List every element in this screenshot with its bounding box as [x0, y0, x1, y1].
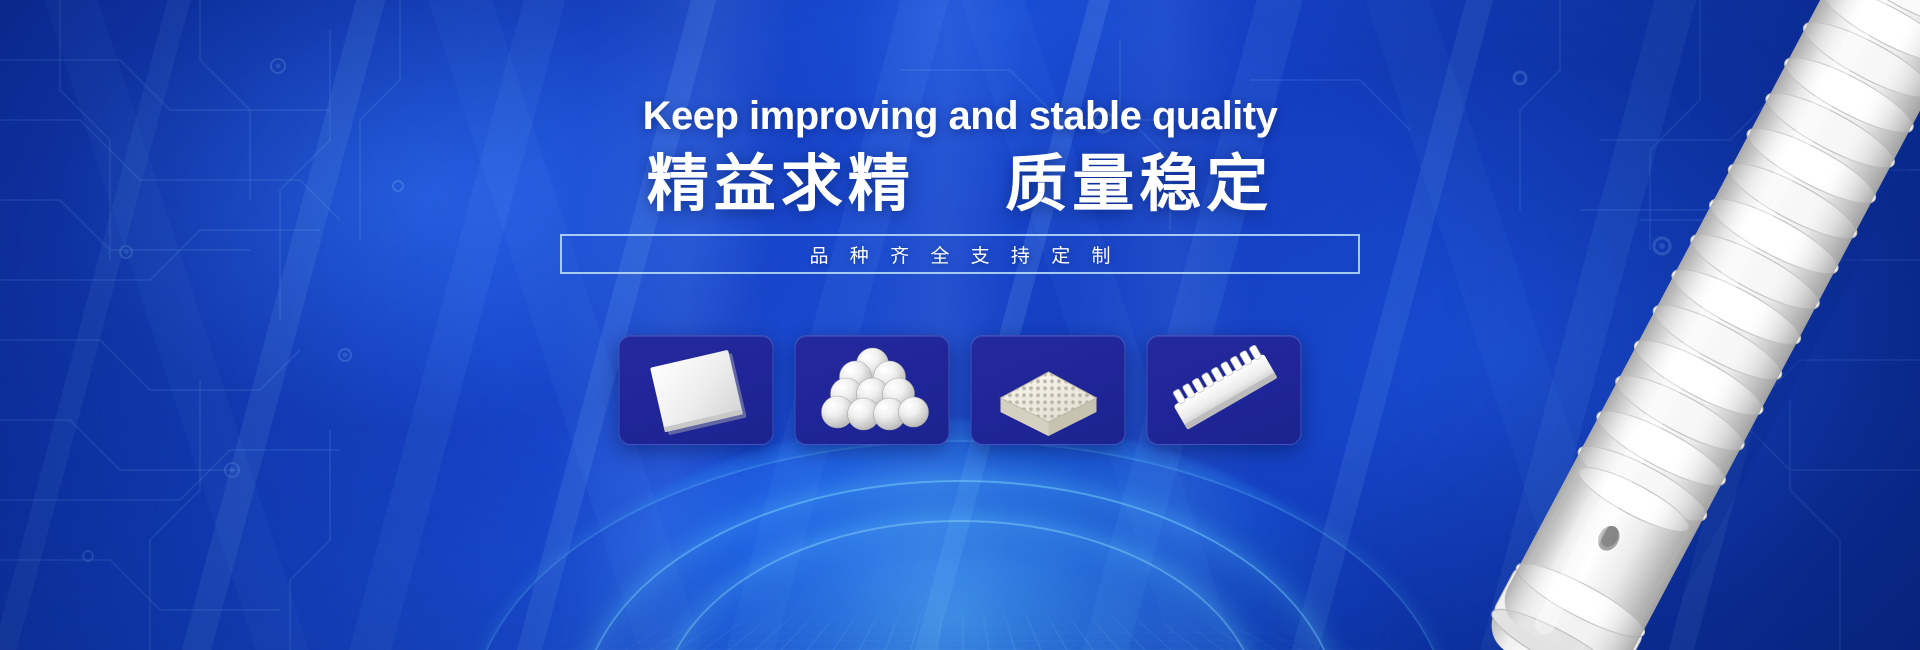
headline-chinese-left: 精益求精: [647, 150, 915, 219]
subtitle-text: 品 种 齐 全 支 持 定 制: [802, 241, 1119, 268]
honeycomb-ceramic-icon: [982, 342, 1114, 438]
ceramic-balls-icon: [812, 344, 932, 436]
product-card-ceramic-plate[interactable]: [619, 335, 774, 445]
headline-block: Keep improving and stable quality 精益求精 质…: [0, 96, 1920, 219]
corrugated-ceramic-bar-icon: [1159, 342, 1289, 438]
promo-banner: Keep improving and stable quality 精益求精 质…: [0, 0, 1920, 650]
product-card-honeycomb-ceramic[interactable]: [971, 335, 1126, 445]
headline-chinese-right: 质量稳定: [1005, 150, 1273, 219]
headline-english: Keep improving and stable quality: [0, 96, 1920, 136]
headline-chinese: 精益求精 质量稳定: [0, 150, 1920, 219]
product-thumbnail-row: [619, 335, 1302, 445]
product-card-ceramic-balls[interactable]: [795, 335, 950, 445]
subtitle-bar: 品 种 齐 全 支 持 定 制: [560, 234, 1360, 274]
ceramic-plate-icon: [631, 343, 761, 438]
product-card-corrugated-bar[interactable]: [1147, 335, 1302, 445]
